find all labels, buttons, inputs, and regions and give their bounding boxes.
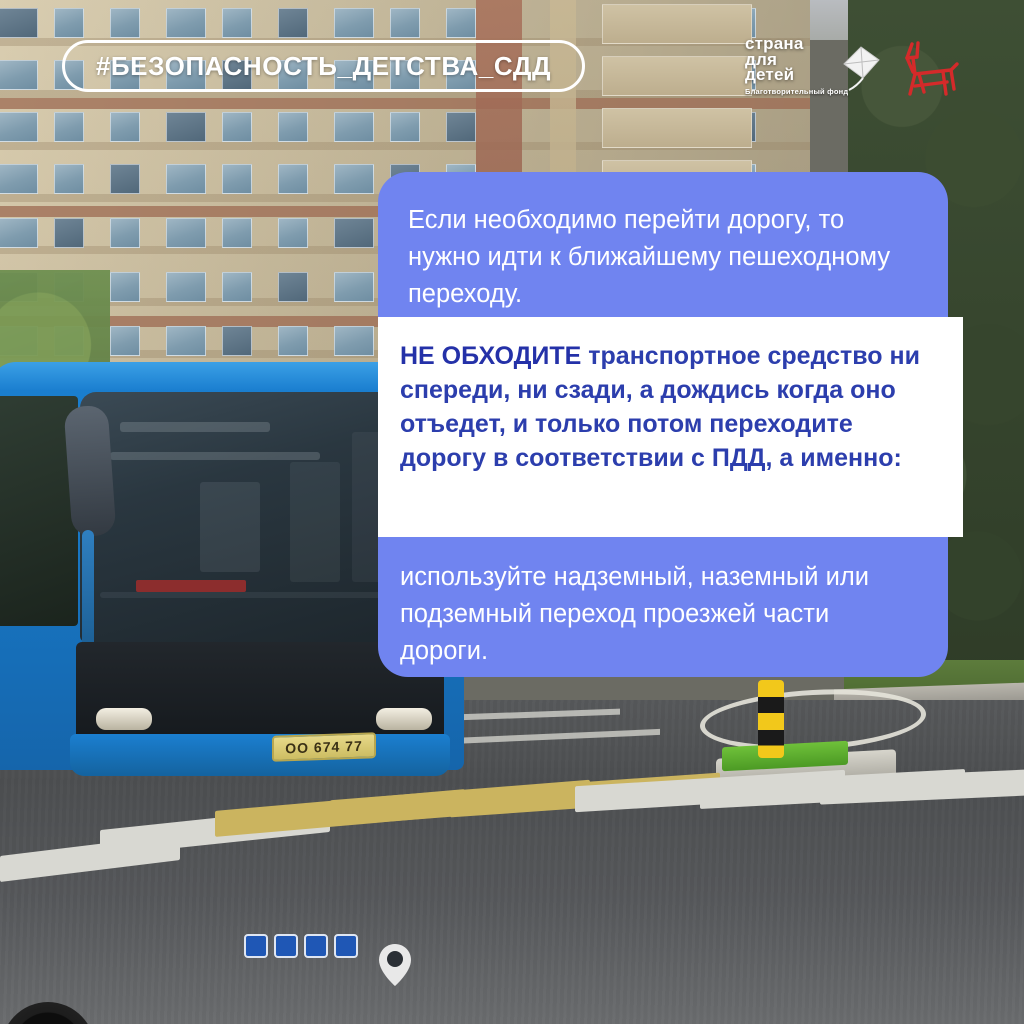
building-window — [222, 112, 252, 142]
wheelchair-sign-icon — [244, 934, 268, 958]
building-window — [446, 112, 476, 142]
red-horse-icon — [893, 34, 965, 104]
building-window — [166, 8, 206, 38]
building-balcony — [602, 56, 752, 96]
building-balcony — [602, 4, 752, 44]
bus-bumper — [70, 734, 450, 776]
building-window — [334, 8, 374, 38]
building-balcony — [602, 108, 752, 148]
building-window — [110, 218, 140, 248]
stroller-sign-icon — [304, 934, 328, 958]
yellow-black-bollard — [758, 680, 784, 758]
building-window — [278, 218, 308, 248]
building-window — [54, 112, 84, 142]
message-block-2-emphasis: НЕ ОБХОДИТЕ — [400, 342, 581, 370]
kite-icon — [840, 44, 882, 96]
building-window — [54, 8, 84, 38]
message-block-1-wrap: Если необходимо перейти дорогу, то нужно… — [378, 172, 948, 313]
building-window — [222, 218, 252, 248]
building-window — [390, 8, 420, 38]
building-window — [110, 272, 140, 302]
building-window — [334, 164, 374, 194]
building-window — [110, 164, 140, 194]
building-window — [166, 112, 206, 142]
building-window — [54, 218, 84, 248]
hashtag-pill: #БЕЗОПАСНОСТЬ_ДЕТСТВА_СДД — [62, 40, 585, 92]
building-window — [278, 326, 308, 356]
message-block-2: НЕ ОБХОДИТЕ транспортное средство ни спе… — [400, 339, 939, 475]
building-window — [0, 164, 38, 194]
bus-mirror-arm — [82, 530, 94, 650]
building-window — [334, 218, 374, 248]
bus-accessibility-signs — [244, 934, 358, 958]
building-window — [278, 272, 308, 302]
message-block-3: используйте надземный, наземный или подз… — [378, 537, 948, 670]
building-window — [110, 112, 140, 142]
building-window — [166, 272, 206, 302]
info-sign-icon — [334, 934, 358, 958]
building-window — [166, 218, 206, 248]
building-window — [446, 8, 476, 38]
building-window — [166, 164, 206, 194]
building-window — [110, 8, 140, 38]
building-window — [334, 272, 374, 302]
message-white-band: НЕ ОБХОДИТЕ транспортное средство ни спе… — [378, 317, 963, 537]
poster-root: ОО 674 77 #БЕЗОПАСНОСТЬ_ДЕТСТВА_СДД стра… — [0, 0, 1024, 1024]
building-window — [222, 8, 252, 38]
building-window — [54, 164, 84, 194]
building-window — [278, 164, 308, 194]
building-window — [0, 112, 38, 142]
message-block-1: Если необходимо перейти дорогу, то нужно… — [408, 202, 918, 313]
building-window — [110, 326, 140, 356]
building-window — [166, 326, 206, 356]
building-window — [222, 272, 252, 302]
moscow-transport-logo-icon — [376, 942, 414, 988]
building-window — [278, 8, 308, 38]
building-window — [278, 112, 308, 142]
building-window — [0, 60, 38, 90]
building-window — [222, 326, 252, 356]
bus-mirror — [64, 405, 117, 538]
building-window — [0, 8, 38, 38]
hashtag-text: #БЕЗОПАСНОСТЬ_ДЕТСТВА_СДД — [96, 51, 551, 82]
building-window — [334, 326, 374, 356]
pedestrian-sign-icon — [274, 934, 298, 958]
building-window — [222, 164, 252, 194]
bus-license-plate: ОО 674 77 — [272, 732, 376, 762]
building-window — [334, 112, 374, 142]
building-window — [0, 218, 38, 248]
building-window — [390, 112, 420, 142]
